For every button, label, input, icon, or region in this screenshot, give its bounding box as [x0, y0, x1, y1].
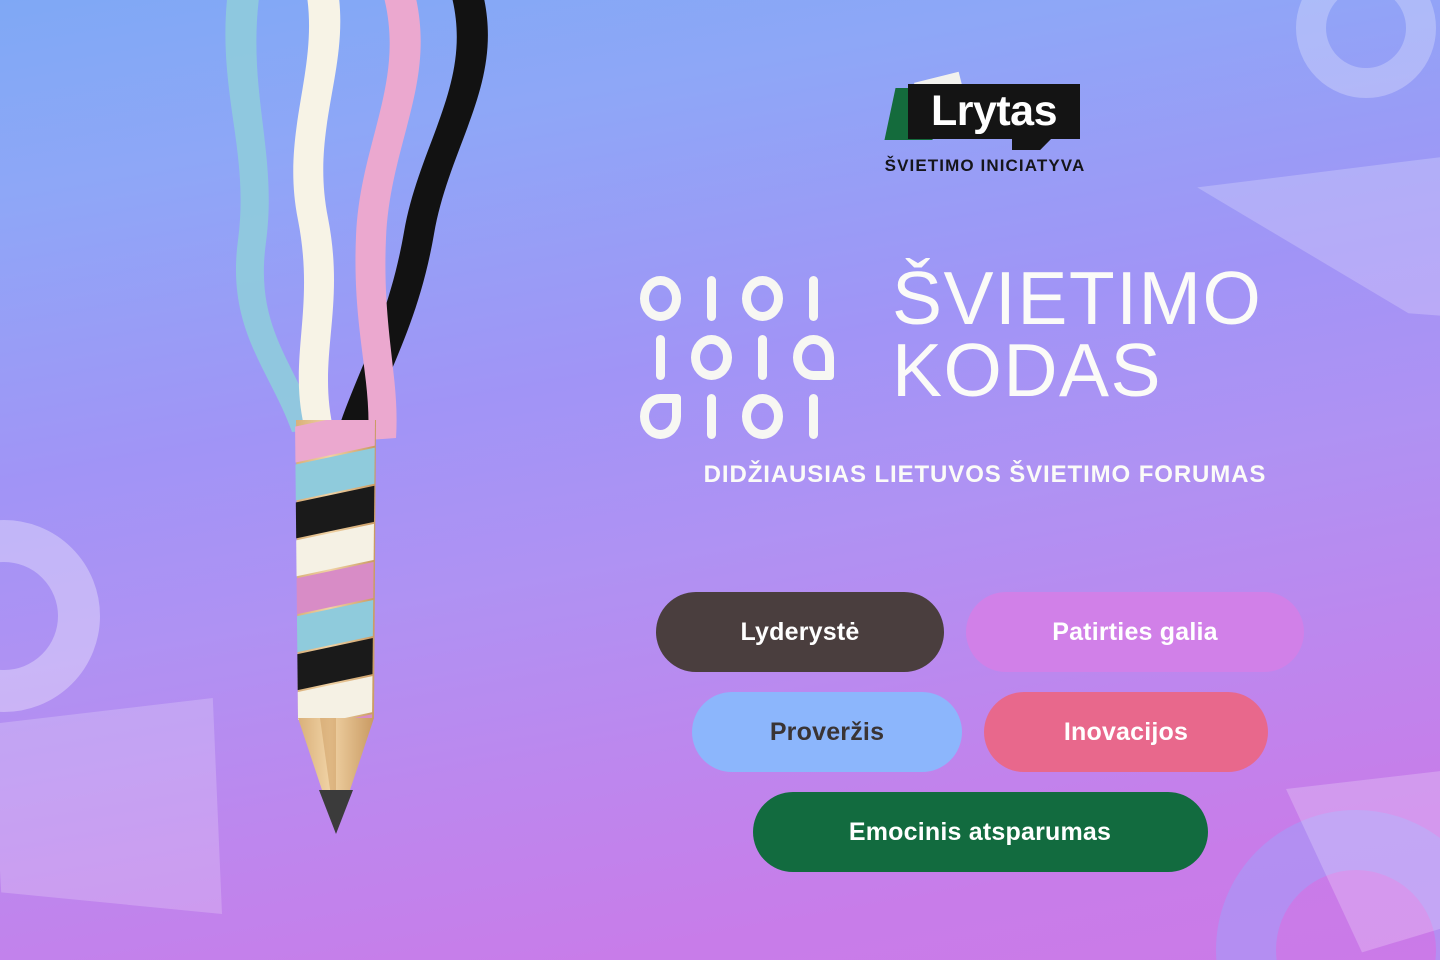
- binary-glyph-zero: [742, 276, 783, 321]
- lrytas-logo[interactable]: Lrytas ŠVIETIMO INICIATYVA: [850, 82, 1120, 176]
- topic-pill-row-3: Emocinis atsparumas: [640, 792, 1320, 872]
- topic-pill-row-2: Proveržis Inovacijos: [640, 692, 1320, 772]
- topic-pill-emocinis-atsparumas[interactable]: Emocinis atsparumas: [753, 792, 1208, 872]
- binary-glyph-zero: [640, 276, 681, 321]
- ring-top-right-icon: [1296, 0, 1436, 98]
- topic-pill-lyderyste[interactable]: Lyderystė: [656, 592, 944, 672]
- lrytas-logo-icon: Lrytas: [890, 82, 1080, 144]
- hero-title-block: ŠVIETIMO KODAS DIDŽIAUSIAS LIETUVOS ŠVIE…: [640, 262, 1330, 489]
- binary-glyph-zero: [640, 394, 681, 439]
- binary-glyph-one: [742, 335, 783, 380]
- poster-canvas: Lrytas ŠVIETIMO INICIATYVA: [0, 0, 1440, 960]
- ring-bottom-left-icon: [0, 520, 100, 712]
- binary-glyph-one: [691, 276, 732, 321]
- binary-row: [640, 276, 834, 321]
- topic-pill-group: Lyderystė Patirties galia Proveržis Inov…: [640, 592, 1320, 892]
- binary-glyph-zero: [742, 394, 783, 439]
- binary-glyph-one: [793, 394, 834, 439]
- logo-wordmark: Lrytas: [908, 84, 1080, 139]
- binary-row: [640, 335, 834, 380]
- binary-glyph-zero: [691, 335, 732, 380]
- title-line-2: KODAS: [892, 334, 1262, 406]
- binary-glyph-zero: [793, 335, 834, 380]
- topic-pill-row-1: Lyderystė Patirties galia: [640, 592, 1320, 672]
- logo-tagline: ŠVIETIMO INICIATYVA: [850, 156, 1120, 176]
- binary-glyph-one: [793, 276, 834, 321]
- topic-pill-patirties-galia[interactable]: Patirties galia: [966, 592, 1304, 672]
- page-title: ŠVIETIMO KODAS: [892, 262, 1262, 406]
- hero-subtitle: DIDŽIAUSIAS LIETUVOS ŠVIETIMO FORUMAS: [640, 461, 1330, 489]
- twisted-ribbon-pencil-illustration: [120, 0, 540, 880]
- topic-pill-inovacijos[interactable]: Inovacijos: [984, 692, 1268, 772]
- binary-glyph-one: [691, 394, 732, 439]
- binary-code-icon: [640, 276, 834, 439]
- topic-pill-proverzis[interactable]: Proveržis: [692, 692, 962, 772]
- binary-row: [640, 394, 834, 439]
- binary-glyph-one: [640, 335, 681, 380]
